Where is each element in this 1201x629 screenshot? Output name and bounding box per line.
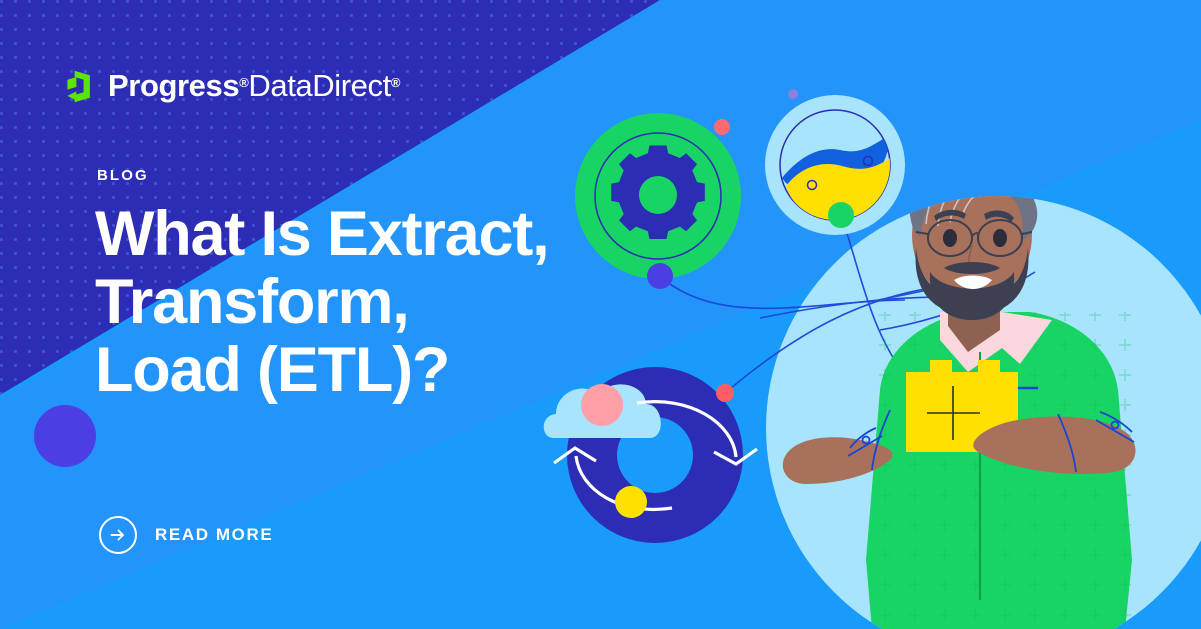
green-dot-bird <box>828 202 854 228</box>
coral-dot-gear <box>714 119 730 135</box>
page-title: What Is Extract, Transform, Load (ETL)? <box>95 200 548 404</box>
category-kicker: BLOG <box>97 167 149 184</box>
brand-name-secondary: DataDirect <box>248 68 390 104</box>
purple-dot-gear <box>647 263 673 289</box>
gear-icon <box>611 145 705 239</box>
read-more-label: READ MORE <box>155 525 273 545</box>
brand-registered-1: ® <box>239 75 248 90</box>
purple-dot-bird <box>788 89 798 99</box>
hero-banner: Progress®DataDirect® BLOG What Is Extrac… <box>0 0 1201 629</box>
progress-chevron-logo-icon <box>62 68 98 104</box>
brand-logo[interactable]: Progress®DataDirect® <box>62 68 400 104</box>
brand-registered-2: ® <box>391 75 400 90</box>
yellow-dot-sync <box>615 486 647 518</box>
brand-name-primary: Progress <box>108 68 239 104</box>
pink-dot-sync <box>581 384 623 426</box>
read-more-button[interactable]: READ MORE <box>99 516 273 554</box>
gear-node <box>575 113 741 289</box>
sync-node <box>544 367 757 543</box>
bird-node <box>765 89 905 235</box>
arrow-right-circle-icon <box>99 516 137 554</box>
brand-wordmark: Progress®DataDirect® <box>108 68 400 104</box>
coral-dot-sync <box>716 384 734 402</box>
